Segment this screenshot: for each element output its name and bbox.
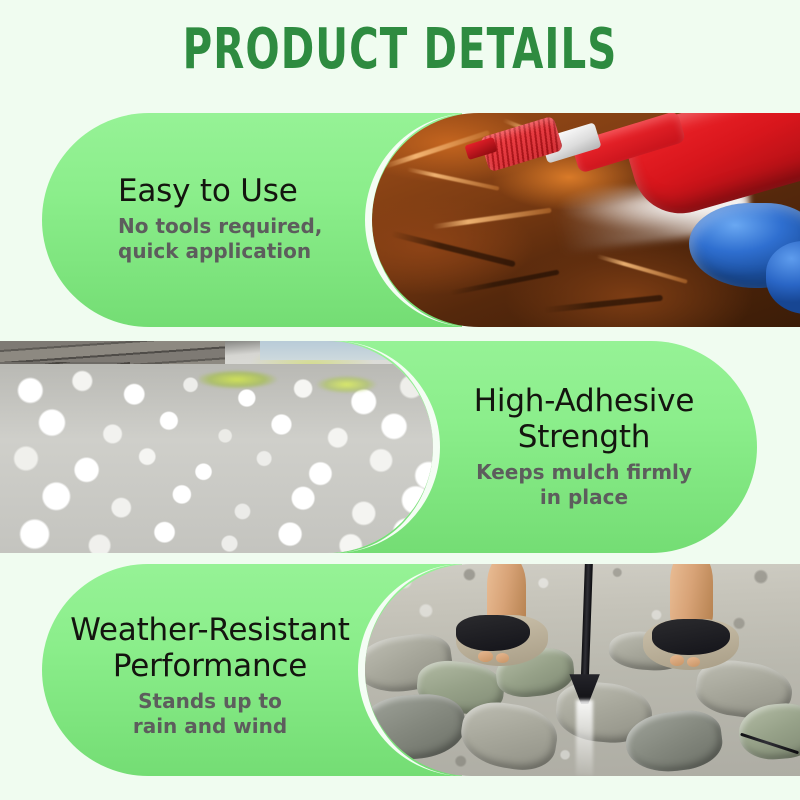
card-1-text-block: Easy to Use No tools required, quick app… xyxy=(118,173,378,264)
card-3-text-block: Weather-Resistant Performance Stands up … xyxy=(60,612,360,739)
card-2-heading-line-2: Strength xyxy=(440,419,728,455)
card-1-heading: Easy to Use xyxy=(118,173,378,209)
card-2-subtitle-line-2: in place xyxy=(440,485,728,510)
card-3-heading-line-2: Performance xyxy=(60,648,360,684)
page-title: PRODUCT DETAILS xyxy=(112,18,688,82)
feature-card-weather-resistant-performance: Weather-Resistant Performance Stands up … xyxy=(0,564,800,776)
card-3-subtitle-line-1: Stands up to xyxy=(60,689,360,714)
feature-card-high-adhesive-strength: High-Adhesive Strength Keeps mulch firml… xyxy=(0,341,800,553)
feature-card-easy-to-use: Easy to Use No tools required, quick app… xyxy=(0,113,800,327)
card-3-subtitle-line-2: rain and wind xyxy=(60,714,360,739)
card-2-text-block: High-Adhesive Strength Keeps mulch firml… xyxy=(440,383,728,510)
white-pebble-landscaping-photo xyxy=(0,341,440,553)
mulch-spray-bottle-photo xyxy=(365,113,800,327)
card-3-heading-line-1: Weather-Resistant xyxy=(60,612,360,648)
card-1-subtitle-line-2: quick application xyxy=(118,239,378,264)
card-2-heading-line-1: High-Adhesive xyxy=(440,383,728,419)
card-1-subtitle-line-1: No tools required, xyxy=(118,214,378,239)
gravel-sandals-washer-photo xyxy=(358,564,800,776)
card-2-subtitle-line-1: Keeps mulch firmly xyxy=(440,460,728,485)
